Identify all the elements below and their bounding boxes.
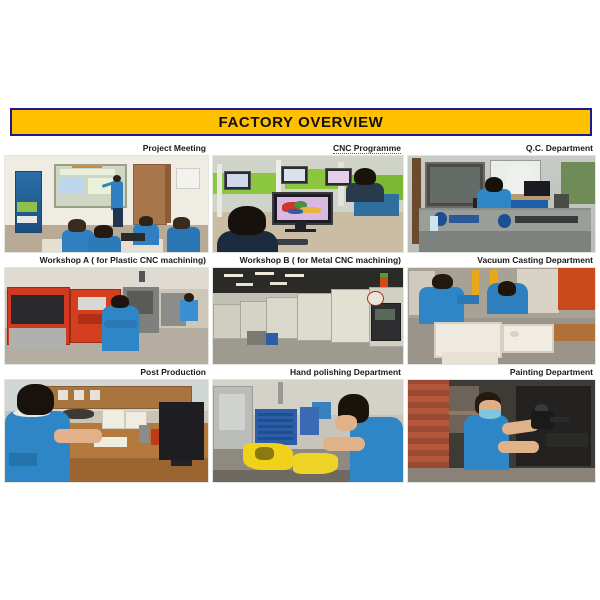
photo-cnc-programme[interactable] [212, 155, 404, 253]
factory-photo-grid: Project Meeting [4, 142, 596, 484]
photo-caption-project-meeting: Project Meeting [4, 142, 209, 155]
photo-caption-cnc-programme: CNC Programme [212, 142, 404, 155]
face-mask [479, 409, 501, 419]
silicone-mold [502, 324, 555, 353]
wall-poster [176, 168, 200, 189]
scene-meeting-room [5, 156, 208, 252]
photo-caption-painting: Painting Department [407, 366, 596, 379]
photo-qc-department[interactable] [407, 155, 596, 253]
photo-row-1: Project Meeting [4, 142, 596, 253]
page-title-banner: FACTORY OVERVIEW [10, 108, 592, 136]
scene-cad-office [213, 156, 403, 252]
photo-cell-post-production[interactable]: Post Production [4, 366, 209, 483]
presenter [111, 181, 123, 210]
cnc-machine [331, 289, 371, 343]
photo-row-2: Workshop A ( for Plastic CNC machining) [4, 254, 596, 365]
company-name-plate [515, 216, 579, 224]
photo-row-3: Post Production [4, 366, 596, 483]
photo-cell-hand-polishing[interactable]: Hand polishing Department [212, 366, 404, 483]
photo-cell-workshop-b[interactable]: Workshop B ( for Metal CNC machining) [212, 254, 404, 365]
blue-perforated-panel [255, 409, 297, 446]
scene-qc-office [408, 156, 595, 252]
photo-caption-post-production: Post Production [4, 366, 209, 379]
status-light [380, 273, 388, 277]
photo-caption-qc-department: Q.C. Department [407, 142, 596, 155]
machine-control-panel [371, 303, 402, 341]
photo-cell-painting[interactable]: Painting Department [407, 366, 596, 483]
photo-cell-qc-department[interactable]: Q.C. Department [407, 142, 596, 253]
spellcheck-underlined-text: CNC Programme [333, 143, 401, 154]
yellow-part [293, 453, 339, 473]
page-title: FACTORY OVERVIEW [219, 114, 384, 131]
photo-cell-workshop-a[interactable]: Workshop A ( for Plastic CNC machining) [4, 254, 209, 365]
photo-workshop-b[interactable] [212, 267, 404, 365]
scene-hand-polishing [213, 380, 403, 482]
post-production-worker [5, 411, 70, 482]
photo-cell-vacuum-casting[interactable]: Vacuum Casting Department [407, 254, 596, 365]
photo-caption-workshop-a: Workshop A ( for Plastic CNC machining) [4, 254, 209, 267]
photo-hand-polishing[interactable] [212, 379, 404, 483]
scene-metal-cnc-workshop [213, 268, 403, 364]
photo-post-production[interactable] [4, 379, 209, 483]
scene-post-production [5, 380, 208, 482]
photo-cell-cnc-programme[interactable]: CNC Programme [212, 142, 404, 253]
scene-painting-booth [408, 380, 595, 482]
photo-project-meeting[interactable] [4, 155, 209, 253]
casting-worker [419, 287, 464, 323]
scene-plastic-cnc-workshop [5, 268, 208, 364]
photo-vacuum-casting[interactable] [407, 267, 596, 365]
cad-operator [228, 206, 266, 235]
photo-caption-hand-polishing: Hand polishing Department [212, 366, 404, 379]
photo-caption-vacuum-casting: Vacuum Casting Department [407, 254, 596, 267]
machinist [102, 306, 139, 350]
photo-workshop-a[interactable] [4, 267, 209, 365]
photo-cell-project-meeting[interactable]: Project Meeting [4, 142, 209, 253]
brick-wall [408, 380, 449, 468]
monitor [159, 402, 204, 459]
scene-vacuum-casting [408, 268, 595, 364]
photo-caption-workshop-b: Workshop B ( for Metal CNC machining) [212, 254, 404, 267]
factory-overview-page: FACTORY OVERVIEW Project Meeting [0, 0, 600, 600]
photo-painting[interactable] [407, 379, 596, 483]
